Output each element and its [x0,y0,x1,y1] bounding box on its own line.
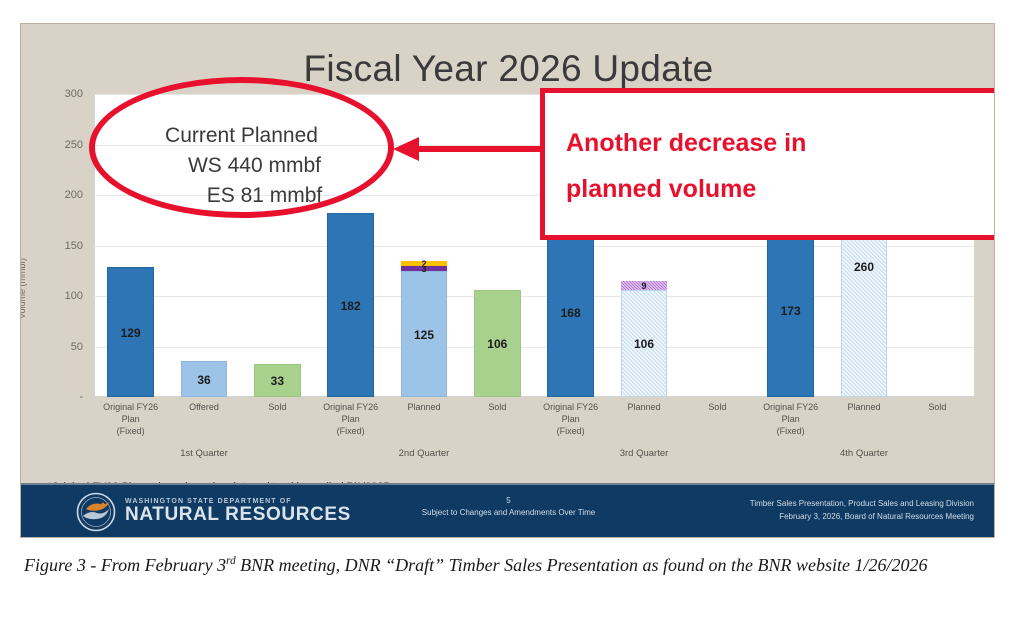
annotation-line-2: planned volume [566,166,986,212]
ellipse-text-line-1: Current Planned [99,121,384,151]
quarter-group-axis: 1st Quarter2nd Quarter3rd Quarter4th Qua… [94,448,974,466]
ellipse-text-line-3: ES 81 mmbf [99,181,384,211]
bar-value-label: 106 [621,337,668,351]
bar-value-label: 36 [181,373,228,387]
category-label: Sold [461,401,534,413]
category-label: Original FY26 Plan(Fixed) [534,401,607,437]
y-axis: Volume (mmbf) -50100150200250300 [29,94,89,397]
slide-title: Fiscal Year 2026 Update [21,48,995,90]
bar-value-label: 182 [327,299,374,313]
category-label: Original FY26 Plan(Fixed) [94,401,167,437]
y-axis-tick: 150 [65,240,83,252]
annotation-box-text: Another decrease in planned volume [566,120,986,213]
footer-right-block: Timber Sales Presentation, Product Sales… [750,498,974,524]
category-label: Sold [901,401,974,413]
category-label: Planned [827,401,900,413]
presentation-slide: Fiscal Year 2026 Update Volume (mmbf) -5… [20,23,995,538]
bar-value-label: 125 [401,328,448,342]
category-label: Planned [607,401,680,413]
slide-footer-bar: WASHINGTON STATE DEPARTMENT OF NATURAL R… [21,483,995,537]
bar-value-label: 168 [547,306,594,320]
category-label: Offered [167,401,240,413]
quarter-group-label: 1st Quarter [94,448,314,459]
category-label: Original FY26 Plan(Fixed) [754,401,827,437]
y-axis-tick: 300 [65,88,83,100]
y-axis-tick: 50 [71,341,83,353]
caption-prefix: Figure 3 - From February 3 [24,555,226,575]
bar-value-label: 260 [841,260,888,274]
quarter-group-label: 3rd Quarter [534,448,754,459]
category-label: Planned [387,401,460,413]
y-axis-tick: - [79,391,83,403]
category-label: Original FY26 Plan(Fixed) [314,401,387,437]
footer-presentation-title: Timber Sales Presentation, Product Sales… [750,498,974,511]
quarter-group-label: 2nd Quarter [314,448,534,459]
red-arrow-annotation [391,134,551,164]
figure-container: Fiscal Year 2026 Update Volume (mmbf) -5… [0,0,1015,640]
annotation-line-1: Another decrease in [566,120,986,166]
footer-meeting-info: February 3, 2026, Board of Natural Resou… [750,511,974,524]
category-label: Sold [241,401,314,413]
caption-ordinal: rd [226,555,236,567]
bar-value-label: 106 [474,337,521,351]
caption-suffix: BNR meeting, DNR “Draft” Timber Sales Pr… [236,555,928,575]
segment-value-label: 2 [401,259,448,269]
y-axis-tick: 250 [65,139,83,151]
y-axis-tick: 200 [65,189,83,201]
segment-value-label: 9 [621,281,668,291]
category-label: Sold [681,401,754,413]
ellipse-annotation-text: Current Planned WS 440 mmbf ES 81 mmbf [99,121,384,210]
quarter-group-label: 4th Quarter [754,448,974,459]
category-axis: Original FY26 Plan(Fixed)OfferedSoldOrig… [94,401,974,446]
ellipse-text-line-2: WS 440 mmbf [99,151,384,181]
y-axis-tick: 100 [65,290,83,302]
bar-value-label: 33 [254,374,301,388]
bar-value-label: 129 [107,326,154,340]
figure-caption: Figure 3 - From February 3rd BNR meeting… [24,552,984,580]
bar-value-label: 173 [767,304,814,318]
y-axis-title: Volume (mmbf) [20,258,27,319]
